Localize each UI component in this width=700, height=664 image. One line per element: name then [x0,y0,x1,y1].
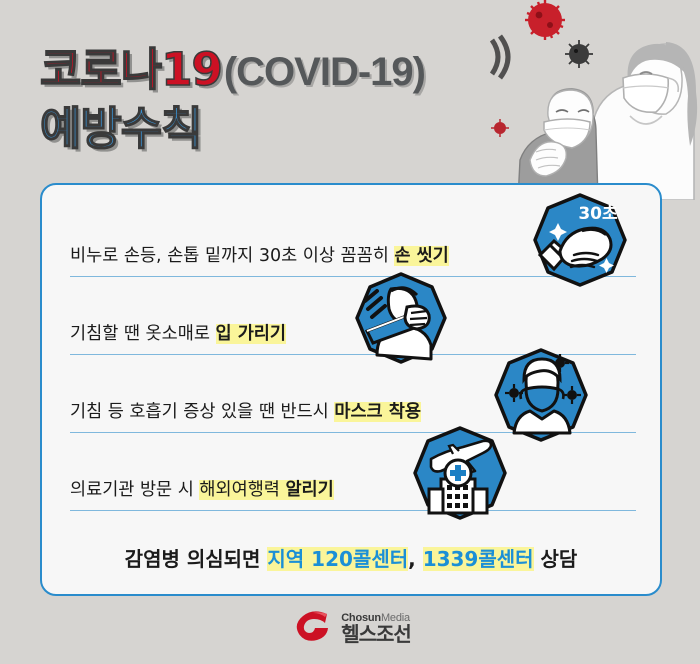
title-line-main: 코로나19(COVID-19) [40,33,425,98]
emergency-suffix: 상담 [534,547,578,571]
emergency-contact-line: 감염병 의심되면 지역 120콜센터, 1339콜센터 상담 [42,543,660,572]
rule-prefix-3: 기침 등 호흡기 증상 있을 땐 반드시 [70,402,334,422]
call-center-local: 지역 120콜센터 [267,547,408,571]
emergency-separator: , [408,547,423,571]
prevention-rules-card: 비누로 손등, 손톱 밑까지 30초 이상 꼼꼼히 손 씻기 [40,183,662,596]
header: 코로나19(COVID-19) 예방수칙 [0,0,700,185]
emergency-prefix: 감염병 의심되면 [125,547,268,571]
chosun-c-mark [289,608,333,649]
virus-particle-red-large [525,0,565,40]
rule-highlight-4: 알리기 [285,480,333,500]
rule-prefix-4: 의료기관 방문 시 [70,480,199,500]
rule-prefix-1: 비누로 손등, 손톱 밑까지 30초 이상 꼼꼼히 [70,246,394,266]
cough-into-sleeve-icon [347,269,455,378]
rule-text-4: 의료기관 방문 시 해외여행력 알리기 [70,476,334,501]
hospital-travel-history-icon [405,423,515,534]
title-line-sub: 예방수칙 [40,92,202,157]
person-woman-masked [594,42,697,200]
masked-people-illustration [490,0,700,200]
chosun-media-logo: ChosunMedia 헬스조선 [0,604,700,652]
rule-text-1: 비누로 손등, 손톱 밑까지 30초 이상 꼼꼼히 손 씻기 [70,242,449,267]
rule-row-3: 기침 등 호흡기 증상 있을 땐 반드시 마스크 착용 [42,363,660,441]
rule-row-4: 의료기관 방문 시 해외여행력 알리기 [42,441,660,519]
rule-text-2: 기침할 땐 옷소매로 입 가리기 [70,320,286,345]
page-title-english: (COVID-19) [224,50,425,94]
rule-highlight-plain-4: 해외여행력 [199,480,285,500]
page-title-korean: 코로나19 [40,43,222,96]
logo-brand-korean: 헬스조선 [341,624,411,644]
virus-particle-dark [565,40,593,68]
rule-text-3: 기침 등 호흡기 증상 있을 땐 반드시 마스크 착용 [70,398,421,423]
rule-prefix-2: 기침할 땐 옷소매로 [70,324,216,344]
rule-highlight-2: 입 가리기 [216,324,287,344]
logo-text-block: ChosunMedia 헬스조선 [341,613,411,644]
rule-separator-4 [70,510,636,512]
rule-highlight-3: 마스크 착용 [334,402,421,422]
hand-washing-badge-label: 30초 [578,204,618,224]
virus-particle-red-small [491,119,509,137]
rule-highlight-1: 손 씻기 [394,246,448,266]
page-subtitle-korean: 예방수칙 [40,102,202,155]
call-center-1339: 1339콜센터 [423,547,534,571]
